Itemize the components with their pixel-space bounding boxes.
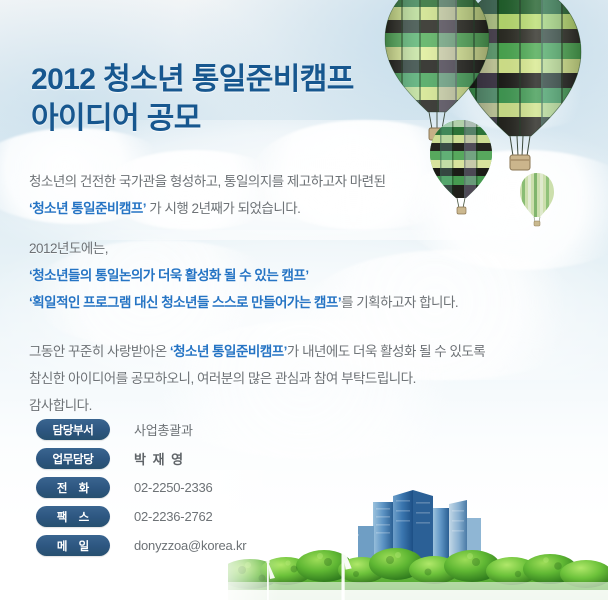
contact-value-manager: 박 재 영 — [134, 449, 185, 468]
text-run: 를 기획하고자 합니다. — [341, 295, 458, 310]
paragraph-1: 청소년의 건전한 국가관을 형성하고, 통일의지를 제고하고자 마련된 ‘청소년… — [29, 168, 589, 222]
poster-content: 2012 청소년 통일준비캠프 아이디어 공모 청소년의 건전한 국가관을 형성… — [0, 0, 608, 600]
highlight-run: ‘청소년들의 통일논의가 더욱 활성화 될 수 있는 캠프’ — [29, 268, 309, 283]
contact-label-manager: 업무담당 — [36, 448, 110, 469]
contact-value-fax: 02-2236-2762 — [134, 509, 213, 524]
contact-label-email: 메 일 — [36, 535, 110, 556]
page-title-line-2: 아이디어 공모 — [31, 99, 451, 138]
paragraph-2-line-2: ‘청소년들의 통일논의가 더욱 활성화 될 수 있는 캠프’ — [29, 262, 589, 289]
text-run: 가 내년에도 더욱 활성화 될 수 있도록 — [287, 344, 485, 359]
paragraph-3: 그동안 꾸준히 사랑받아온 ‘청소년 통일준비캠프’가 내년에도 더욱 활성화 … — [29, 338, 589, 419]
contact-value-department: 사업총괄과 — [134, 420, 193, 439]
body-copy: 청소년의 건전한 국가관을 형성하고, 통일의지를 제고하고자 마련된 ‘청소년… — [29, 168, 589, 419]
text-run: 그동안 꾸준히 사랑받아온 — [29, 344, 170, 359]
contact-row-department: 담당부서 사업총괄과 — [36, 417, 246, 442]
contact-row-email: 메 일 donyzzoa@korea.kr — [36, 533, 246, 558]
paragraph-3-line-2: 참신한 아이디어를 공모하오니, 여러분의 많은 관심과 참여 부탁드립니다. — [29, 365, 589, 392]
page-title-line-1: 2012 청소년 통일준비캠프 — [31, 60, 451, 99]
paragraph-2-line-1: 2012년도에는, — [29, 235, 589, 262]
contact-label-fax: 팩 스 — [36, 506, 110, 527]
highlight-run: ‘획일적인 프로그램 대신 청소년들 스스로 만들어가는 캠프’ — [29, 295, 341, 310]
highlight-run: ‘청소년 통일준비캠프’ — [29, 201, 146, 216]
highlight-run: ‘청소년 통일준비캠프’ — [170, 344, 287, 359]
paragraph-2: 2012년도에는, ‘청소년들의 통일논의가 더욱 활성화 될 수 있는 캠프’… — [29, 235, 589, 316]
contact-label-phone: 전 화 — [36, 477, 110, 498]
page-title: 2012 청소년 통일준비캠프 아이디어 공모 — [31, 60, 451, 138]
text-run: 가 시행 2년째가 되었습니다. — [146, 201, 300, 216]
contact-value-phone: 02-2250-2336 — [134, 480, 213, 495]
poster-canvas: 2012 청소년 통일준비캠프 아이디어 공모 청소년의 건전한 국가관을 형성… — [0, 0, 608, 600]
contact-row-manager: 업무담당 박 재 영 — [36, 446, 246, 471]
paragraph-2-line-3: ‘획일적인 프로그램 대신 청소년들 스스로 만들어가는 캠프’를 기획하고자 … — [29, 289, 589, 316]
text-run: 참신한 아이디어를 공모하오니, 여러분의 많은 관심과 참여 부탁드립니다. — [29, 371, 416, 386]
text-run: 청소년의 건전한 국가관을 형성하고, 통일의지를 제고하고자 마련된 — [29, 174, 386, 189]
contact-info-list: 담당부서 사업총괄과 업무담당 박 재 영 전 화 02-2250-2336 팩… — [36, 417, 246, 562]
contact-value-email[interactable]: donyzzoa@korea.kr — [134, 538, 246, 553]
contact-row-phone: 전 화 02-2250-2336 — [36, 475, 246, 500]
paragraph-3-line-3: 감사합니다. — [29, 392, 589, 419]
paragraph-1-line-2: ‘청소년 통일준비캠프’ 가 시행 2년째가 되었습니다. — [29, 195, 589, 222]
text-run: 2012년도에는, — [29, 241, 108, 256]
contact-label-department: 담당부서 — [36, 419, 110, 440]
contact-row-fax: 팩 스 02-2236-2762 — [36, 504, 246, 529]
text-run: 감사합니다. — [29, 398, 92, 413]
paragraph-3-line-1: 그동안 꾸준히 사랑받아온 ‘청소년 통일준비캠프’가 내년에도 더욱 활성화 … — [29, 338, 589, 365]
paragraph-1-line-1: 청소년의 건전한 국가관을 형성하고, 통일의지를 제고하고자 마련된 — [29, 168, 589, 195]
